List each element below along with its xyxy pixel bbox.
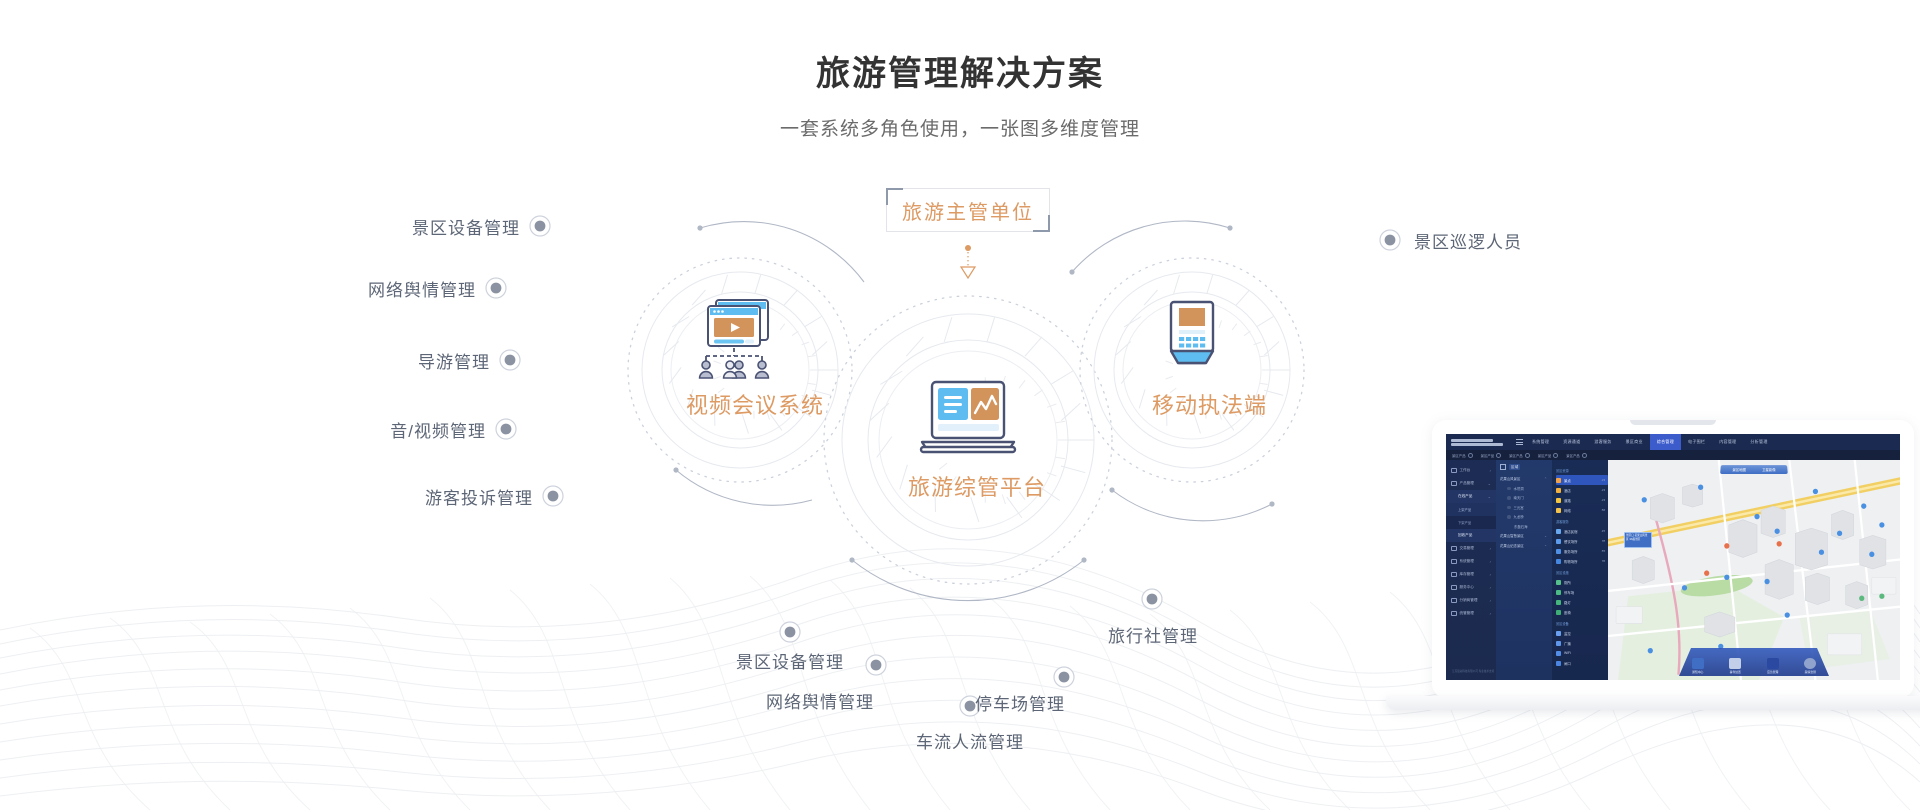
app-tab-1-label: 景区产品: [1481, 453, 1495, 458]
map-bottom-dock: 通知中心 事件处置 应急管理 舆情监测: [1679, 648, 1829, 676]
tree-row-7-label: 花果山纪念景区: [1500, 543, 1524, 548]
layer-item-0-0[interactable]: 景点23: [1556, 475, 1608, 485]
layer-item-2-2[interactable]: 路灯: [1556, 597, 1608, 607]
tree-row-4[interactable]: 九龙桥: [1500, 512, 1552, 522]
sidebar-item-3-label: 上架产品: [1458, 507, 1471, 512]
hub-mobile-enforcement[interactable]: 移动执法端: [1152, 296, 1232, 416]
layer-icon: [1556, 631, 1561, 636]
tree-row-3-label: 三元宫: [1514, 505, 1524, 510]
app-tab-4-label: 景区产品: [1566, 453, 1580, 458]
sidebar-item-6[interactable]: 交易管理›: [1446, 542, 1496, 555]
layer-item-0-1[interactable]: 酒店23: [1556, 485, 1608, 495]
node-label-bottom-0[interactable]: 景区设备管理: [670, 648, 910, 673]
tree-row-1-label: 水帘洞: [1514, 486, 1524, 491]
menu-icon: [1451, 559, 1457, 565]
close-icon[interactable]: [1582, 453, 1587, 458]
sidebar-item-8-label: 库存管理: [1460, 572, 1474, 577]
dock-item-1-label: 事件处置: [1730, 670, 1741, 674]
tree-row-4-label: 九龙桥: [1514, 514, 1524, 519]
node-label-bottom-4[interactable]: 旅行社管理: [1033, 622, 1273, 647]
app-tab-0[interactable]: 景区产品: [1452, 453, 1473, 458]
chevron-right-icon: ›: [1490, 585, 1491, 590]
layer-item-0-2-label: 道路: [1564, 498, 1571, 503]
layer-icon: [1556, 610, 1561, 615]
tree-row-6-label: 花果山智慧景区: [1500, 533, 1524, 538]
laptop-lid: 系统管理 资源通道 游客服务 景区商业 综合管理 电子围栏 内容管理 分析管理 …: [1432, 420, 1914, 698]
layer-item-3-0[interactable]: 监控: [1556, 628, 1608, 638]
app-nav-item-3[interactable]: 景区商业: [1619, 434, 1650, 450]
sidebar-item-2-label: 在线产品: [1451, 494, 1472, 499]
video-conference-icon: [686, 296, 794, 382]
laptop-notch: [1630, 420, 1716, 425]
hub-video-conference-label: 视频会议系统: [686, 388, 794, 420]
panel-region-tree: 区域 花果山风景区⌃ 水帘洞 南天门 三元宫 九龙桥 东磊石海 花果山智慧景区⌄…: [1496, 460, 1552, 680]
sidebar-item-5-label: 回收产品: [1451, 533, 1472, 538]
menu-icon: [1451, 572, 1457, 578]
map-mode-option-1[interactable]: 卫星影像: [1754, 467, 1784, 472]
layer-item-0-2-count: 23: [1602, 498, 1605, 502]
layer-icon: [1556, 488, 1561, 493]
page-subtitle: 一套系统多角色使用，一张图多维度管理: [0, 95, 1920, 141]
dock-item-2-label: 应急管理: [1767, 670, 1778, 674]
handheld-device-icon: [1152, 296, 1232, 382]
badge-connector: [961, 245, 975, 278]
app-nav-items: 系统管理 资源通道 游客服务 景区商业 综合管理 电子围栏 内容管理 分析管理: [1525, 434, 1900, 450]
layer-icon: [1556, 651, 1561, 656]
layer-item-0-3-count: 56: [1602, 508, 1605, 512]
chevron-down-icon: ⌄: [1488, 481, 1491, 486]
dock-item-1[interactable]: 事件处置: [1729, 658, 1741, 674]
tree-row-2-label: 南天门: [1514, 495, 1524, 500]
sidebar-item-2[interactable]: 在线产品⌄: [1446, 490, 1496, 503]
layer-item-0-3[interactable]: 网络56: [1556, 505, 1608, 515]
chevron-down-icon: ⌄: [1488, 494, 1491, 499]
layer-icon: [1556, 508, 1561, 513]
layer-group-3-title: 景区设备: [1556, 621, 1608, 626]
layer-icon: [1556, 580, 1561, 585]
sidebar-item-10[interactable]: 分销商管理›: [1446, 594, 1496, 607]
layer-item-0-1-label: 酒店: [1564, 488, 1571, 493]
layer-item-2-0[interactable]: 厕所: [1556, 577, 1608, 587]
list-icon: [1500, 464, 1506, 470]
tree-row-0-label: 花果山风景区: [1500, 476, 1520, 481]
node-label-left-3[interactable]: 音/视频管理: [166, 417, 486, 442]
monitor-icon: [1804, 658, 1816, 669]
app-body: 工作台› 产品管理⌄ 在线产品⌄ 上架产品 下架产品 回收产品 交易管理› 系统…: [1446, 460, 1900, 680]
map-mode-switch[interactable]: 景区地图 卫星影像: [1720, 465, 1788, 474]
app-nav-item-5[interactable]: 电子围栏: [1681, 434, 1712, 450]
layer-item-1-2-label: 服务场所: [1564, 549, 1578, 554]
layer-item-1-1[interactable]: 餐饮场所78: [1556, 536, 1608, 546]
notification-icon: [1692, 658, 1704, 669]
menu-icon: [1451, 546, 1457, 552]
sidebar-item-4-label: 下架产品: [1458, 520, 1471, 525]
sidebar-item-4[interactable]: 下架产品: [1446, 516, 1496, 529]
node-label-bottom-2[interactable]: 车流人流管理: [850, 728, 1090, 753]
close-icon[interactable]: [1468, 453, 1473, 458]
layer-item-3-3-label: 闸口: [1564, 661, 1571, 666]
menu-icon: [1451, 585, 1457, 591]
laptop-screen: 系统管理 资源通道 游客服务 景区商业 综合管理 电子围栏 内容管理 分析管理 …: [1446, 434, 1900, 680]
tree-row-6[interactable]: 花果山智慧景区⌄: [1500, 531, 1552, 541]
layer-item-1-3-label: 购物场所: [1564, 559, 1578, 564]
app-tab-3-label: 景区产品: [1538, 453, 1552, 458]
layer-item-2-1-label: 停车场: [1564, 590, 1574, 595]
tree-row-5-label: 东磊石海: [1507, 524, 1528, 529]
dock-item-0[interactable]: 通知中心: [1692, 658, 1704, 674]
menu-icon: [1451, 598, 1457, 604]
layer-item-1-0-count: 45: [1602, 529, 1605, 533]
tree-row-0[interactable]: 花果山风景区⌃: [1500, 474, 1552, 484]
laptop-dashboard-icon: [908, 378, 1028, 466]
app-top-navbar: 系统管理 资源通道 游客服务 景区商业 综合管理 电子围栏 内容管理 分析管理: [1446, 434, 1900, 450]
menu-icon: [1451, 611, 1457, 617]
app-tab-0-label: 景区产品: [1452, 453, 1466, 458]
app-tab-1[interactable]: 景区产品: [1481, 453, 1502, 458]
layer-item-1-2-count: 55: [1602, 549, 1605, 553]
layer-item-2-0-label: 厕所: [1564, 580, 1571, 585]
panel-title-label: 区域: [1509, 464, 1520, 470]
layer-item-2-3-label: 座椅: [1564, 610, 1571, 615]
panel-layer-list: 景区资源 景点23 酒店23 道路23 网络56 游客服务 酒店民宿45 餐饮场…: [1552, 460, 1608, 680]
layer-item-0-3-label: 网络: [1564, 508, 1571, 513]
layer-item-2-1[interactable]: 停车场: [1556, 587, 1608, 597]
app-layer-panel: 区域 花果山风景区⌃ 水帘洞 南天门 三元宫 九龙桥 东磊石海 花果山智慧景区⌄…: [1496, 460, 1608, 680]
node-label-left-0[interactable]: 景区设备管理: [200, 214, 520, 239]
chevron-right-icon: ›: [1490, 468, 1491, 473]
close-icon[interactable]: [1496, 453, 1501, 458]
layer-icon: [1556, 549, 1561, 554]
app-tab-3[interactable]: 景区产品: [1538, 453, 1559, 458]
authority-badge-label: 旅游主管单位: [902, 196, 1034, 225]
sidebar-item-6-label: 交易管理: [1460, 546, 1474, 551]
menu-icon: [1451, 468, 1457, 474]
layer-item-1-0[interactable]: 酒店民宿45: [1556, 526, 1608, 536]
layer-group-2-title: 景区设施: [1556, 570, 1608, 575]
sidebar-item-5[interactable]: 回收产品: [1446, 529, 1496, 542]
laptop-base: [1386, 696, 1920, 710]
layer-item-1-3-count: 76: [1602, 559, 1605, 563]
left-connectors: [486, 216, 648, 506]
chevron-right-icon: ›: [1490, 546, 1491, 551]
hamburger-icon[interactable]: [1513, 439, 1525, 445]
layer-icon: [1556, 661, 1561, 666]
tree-row-3[interactable]: 三元宫: [1500, 503, 1552, 513]
layer-item-0-2[interactable]: 道路23: [1556, 495, 1608, 505]
sidebar-item-3[interactable]: 上架产品: [1446, 503, 1496, 516]
app-nav-item-0[interactable]: 系统管理: [1525, 434, 1556, 450]
layer-item-1-0-label: 酒店民宿: [1564, 529, 1578, 534]
layer-icon: [1556, 600, 1561, 605]
app-nav-item-2[interactable]: 游客服务: [1587, 434, 1618, 450]
dock-item-3-label: 舆情监测: [1805, 670, 1816, 674]
sidebar-item-9[interactable]: 服务中心›: [1446, 581, 1496, 594]
layer-item-3-2-label: WiFi: [1564, 651, 1571, 655]
sidebar-item-1-label: 产品管理: [1460, 481, 1474, 486]
layer-icon: [1556, 590, 1561, 595]
chevron-right-icon: ›: [1490, 598, 1491, 603]
chevron-right-icon: ›: [1490, 572, 1491, 577]
layer-item-1-1-count: 78: [1602, 539, 1605, 543]
sidebar-item-11-label: 统管管理: [1460, 611, 1474, 616]
menu-icon: [1451, 481, 1457, 487]
layer-icon: [1556, 641, 1561, 646]
close-icon[interactable]: [1553, 453, 1558, 458]
map-mode-option-0[interactable]: 景区地图: [1724, 467, 1754, 472]
sidebar-item-0-label: 工作台: [1460, 468, 1471, 473]
badge-corner-bottom-right: [1033, 215, 1050, 232]
chevron-right-icon: ›: [1490, 559, 1491, 564]
hub-platform[interactable]: 旅游综管平台: [908, 378, 1028, 508]
authority-badge[interactable]: 旅游主管单位: [886, 188, 1050, 232]
chevron-up-icon[interactable]: ⌃: [1544, 477, 1547, 481]
node-label-left-2[interactable]: 导游管理: [170, 348, 490, 373]
layer-item-1-2[interactable]: 服务场所55: [1556, 546, 1608, 556]
tree-row-5[interactable]: 东磊石海: [1500, 522, 1552, 532]
layer-item-2-2-label: 路灯: [1564, 600, 1571, 605]
page-title: 旅游管理解决方案: [0, 0, 1920, 95]
layer-item-3-0-label: 监控: [1564, 631, 1571, 636]
bullet-icon: [1507, 487, 1511, 491]
node-label-left-4[interactable]: 游客投诉管理: [213, 484, 533, 509]
app-map-canvas[interactable]: 景区地图 卫星影像 景区口 花果山风景区 3A级景区 通知中心 事件处置 应急管…: [1608, 460, 1900, 680]
dock-item-3[interactable]: 舆情监测: [1804, 658, 1816, 674]
layer-item-0-1-count: 23: [1602, 488, 1605, 492]
map-render: [1608, 460, 1900, 680]
app-logo: [1446, 439, 1513, 446]
emergency-icon: [1767, 658, 1779, 669]
layer-item-1-1-label: 餐饮场所: [1564, 539, 1578, 544]
layer-item-3-3[interactable]: 闸口: [1556, 658, 1608, 668]
layer-group-0-title: 景区资源: [1556, 468, 1608, 473]
node-label-right-0[interactable]: 景区巡逻人员: [1414, 228, 1734, 253]
app-nav-item-7[interactable]: 分析管理: [1743, 434, 1774, 450]
tree-row-7[interactable]: 花果山纪念景区⌄: [1500, 541, 1552, 551]
node-label-bottom-3[interactable]: 停车场管理: [900, 690, 1140, 715]
hub-platform-label: 旅游综管平台: [908, 470, 1028, 502]
page-header: 旅游管理解决方案 一套系统多角色使用，一张图多维度管理: [0, 0, 1920, 141]
sidebar-item-1[interactable]: 产品管理⌄: [1446, 477, 1496, 490]
bullet-icon: [1507, 515, 1511, 519]
layer-group-1-title: 游客服务: [1556, 519, 1608, 524]
close-icon[interactable]: [1525, 453, 1530, 458]
sidebar-item-8[interactable]: 库存管理›: [1446, 568, 1496, 581]
layer-icon: [1556, 498, 1561, 503]
app-nav-item-4[interactable]: 综合管理: [1650, 434, 1681, 450]
app-tab-bar: 景区产品 景区产品 景区产品 景区产品 景区产品: [1446, 450, 1900, 460]
layer-item-1-3[interactable]: 购物场所76: [1556, 556, 1608, 566]
app-tab-2-label: 景区产品: [1509, 453, 1523, 458]
sidebar-item-11[interactable]: 统管管理›: [1446, 607, 1496, 620]
hub-mobile-enforcement-label: 移动执法端: [1152, 388, 1232, 420]
bullet-icon: [1507, 496, 1511, 500]
sidebar-item-7[interactable]: 系统管理›: [1446, 555, 1496, 568]
dock-item-2[interactable]: 应急管理: [1767, 658, 1779, 674]
layer-icon: [1556, 478, 1561, 483]
layer-item-3-1-label: 广播: [1564, 641, 1571, 646]
map-info-tooltip: 景区口 花果山风景区 3A级景区: [1624, 532, 1652, 548]
badge-corner-top-left: [886, 188, 903, 205]
layer-item-3-1[interactable]: 广播: [1556, 638, 1608, 648]
layer-item-3-2[interactable]: WiFi: [1556, 648, 1608, 658]
app-nav-item-1[interactable]: 资源通道: [1556, 434, 1587, 450]
dock-item-0-label: 通知中心: [1692, 670, 1703, 674]
app-tab-2[interactable]: 景区产品: [1509, 453, 1530, 458]
chevron-down-icon[interactable]: ⌄: [1544, 534, 1547, 538]
app-sidebar: 工作台› 产品管理⌄ 在线产品⌄ 上架产品 下架产品 回收产品 交易管理› 系统…: [1446, 460, 1496, 680]
tree-row-2[interactable]: 南天门: [1500, 493, 1552, 503]
right-connectors: [1297, 230, 1400, 250]
node-label-left-1[interactable]: 网络舆情管理: [156, 276, 476, 301]
sidebar-item-9-label: 服务中心: [1460, 585, 1474, 590]
sidebar-item-7-label: 系统管理: [1460, 559, 1474, 564]
event-icon: [1729, 658, 1741, 669]
bullet-icon: [1507, 506, 1511, 510]
panel-title: 区域: [1500, 464, 1552, 470]
sidebar-footer: 江苏铭昶科技有限公司 专业技术支持: [1446, 670, 1496, 680]
chevron-right-icon: ›: [1490, 611, 1491, 616]
layer-item-0-0-count: 23: [1602, 478, 1605, 482]
tree-row-1[interactable]: 水帘洞: [1500, 484, 1552, 494]
layer-icon: [1556, 539, 1561, 544]
layer-icon: [1556, 529, 1561, 534]
sidebar-item-10-label: 分销商管理: [1460, 598, 1478, 603]
layer-icon: [1556, 559, 1561, 564]
app-tab-4[interactable]: 景区产品: [1566, 453, 1587, 458]
layer-item-2-3[interactable]: 座椅: [1556, 607, 1608, 617]
layer-item-0-0-label: 景点: [1564, 478, 1571, 483]
app-nav-item-6[interactable]: 内容管理: [1712, 434, 1743, 450]
sidebar-item-0[interactable]: 工作台›: [1446, 464, 1496, 477]
chevron-down-icon[interactable]: ⌄: [1544, 543, 1547, 547]
hub-video-conference[interactable]: 视频会议系统: [686, 296, 794, 416]
